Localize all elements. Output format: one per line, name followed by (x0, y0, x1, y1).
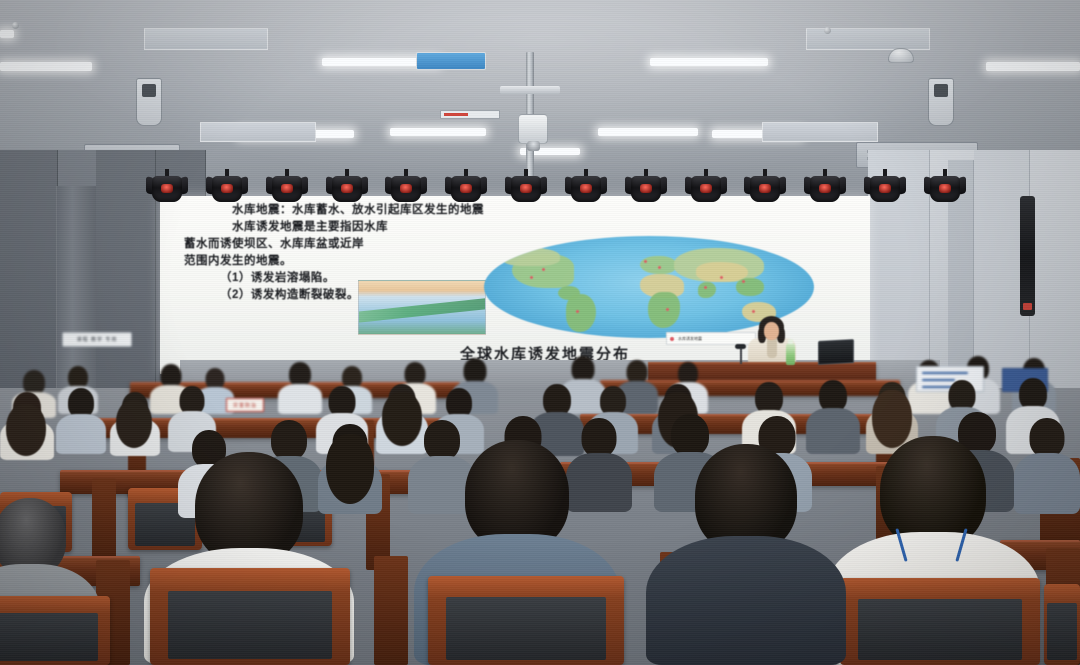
audience-person (56, 388, 106, 454)
stage-light (691, 174, 721, 204)
projector-lens-icon (527, 141, 540, 151)
person-hair (116, 400, 152, 448)
column-speaker (1020, 196, 1035, 316)
landmass (698, 282, 716, 298)
person-torso (56, 414, 106, 454)
desk-end-panel (374, 556, 408, 665)
light-lens-icon (759, 184, 771, 193)
lecture-hall-photo: 课程 教学 专用 水库地震：水库蓄水、放水引起库区发生的地震 水库诱发地震是主要… (0, 0, 1080, 665)
landmass (736, 278, 764, 296)
chair-cushion (1047, 603, 1077, 660)
light-lens-icon (580, 184, 592, 193)
ceiling-projector (518, 114, 548, 144)
earthquake-marker (530, 276, 533, 279)
ceiling-light (598, 128, 698, 136)
landmass (640, 256, 676, 274)
stage-light (631, 174, 661, 204)
audience-chair-front[interactable] (0, 596, 110, 665)
ceiling-light (650, 58, 768, 66)
earthquake-marker (752, 310, 755, 313)
ceiling-panel (144, 28, 268, 50)
ceiling-light (986, 62, 1080, 71)
slide-inset-photo (358, 280, 486, 335)
light-lens-icon (460, 184, 472, 193)
light-lens-icon (819, 184, 831, 193)
ceiling-speaker (136, 78, 162, 126)
chair-cushion (858, 599, 1022, 660)
sprinkler-icon (12, 22, 19, 29)
light-lens-icon (281, 184, 293, 193)
person-hair (6, 404, 46, 456)
stage-light (451, 174, 481, 204)
stage-light (930, 174, 960, 204)
earthquake-marker (742, 280, 745, 283)
landmass (502, 248, 560, 266)
person-torso (646, 536, 846, 665)
light-lens-icon (221, 184, 233, 193)
earthquake-marker (542, 268, 545, 271)
ceiling-light (390, 128, 486, 136)
desk-nameplate: 灾害防治 (226, 398, 264, 412)
earthquake-marker (666, 308, 669, 311)
earthquake-marker (720, 276, 723, 279)
earthquake-marker (704, 286, 707, 289)
earthquake-marker (658, 266, 661, 269)
speaker-head (764, 322, 779, 340)
chair-cushion (0, 613, 98, 661)
ceiling-notice-sign (416, 52, 486, 70)
stage-light (272, 174, 302, 204)
slide-heading: 水库地震：水库蓄水、放水引起库区发生的地震 (184, 202, 544, 219)
stage-light (750, 174, 780, 204)
light-lens-icon (520, 184, 532, 193)
ceiling-light (0, 62, 92, 71)
dome-camera-icon (888, 48, 914, 63)
stage-light (571, 174, 601, 204)
water-bottle (786, 343, 795, 365)
presenter-laptop (818, 339, 854, 365)
audience-chair-front[interactable] (840, 578, 1040, 665)
left-wall-sign: 课程 教学 专用 (62, 332, 132, 347)
ceiling-panel (200, 122, 316, 142)
audience-chair-front[interactable] (150, 568, 350, 665)
audience-person-front (646, 444, 846, 665)
projector-mount-arm (500, 86, 560, 94)
audience-chair-front[interactable] (1044, 584, 1080, 665)
landmass (648, 292, 680, 328)
earthquake-marker (576, 310, 579, 313)
stage-light (391, 174, 421, 204)
stage-light (152, 174, 182, 204)
light-lens-icon (400, 184, 412, 193)
light-lens-icon (640, 184, 652, 193)
sprinkler-icon (824, 27, 831, 34)
legend-label: 水库诱发地震 (678, 336, 702, 342)
stage-light (511, 174, 541, 204)
chair-cushion (446, 597, 607, 659)
audience-chair-front[interactable] (428, 576, 624, 665)
light-lens-icon (341, 184, 353, 193)
microphone-icon (735, 344, 746, 349)
slide-line-1: 水库诱发地震是主要指因水库 (184, 219, 544, 236)
ceiling-panel (762, 122, 878, 142)
landmass (566, 294, 596, 332)
ceiling-speaker (928, 78, 954, 126)
banner-line (922, 372, 968, 374)
chair-cushion (168, 591, 332, 659)
ceiling-strip-sign (440, 110, 500, 119)
stage-light (810, 174, 840, 204)
light-lens-icon (939, 184, 951, 193)
light-lens-icon (700, 184, 712, 193)
stage-light (332, 174, 362, 204)
ceiling-light (0, 30, 14, 38)
stage-light (870, 174, 900, 204)
light-lens-icon (161, 184, 173, 193)
earthquake-marker (644, 260, 647, 263)
legend-dot-icon (670, 337, 674, 341)
stage-light (212, 174, 242, 204)
microphone-stand (740, 348, 742, 364)
light-lens-icon (879, 184, 891, 193)
